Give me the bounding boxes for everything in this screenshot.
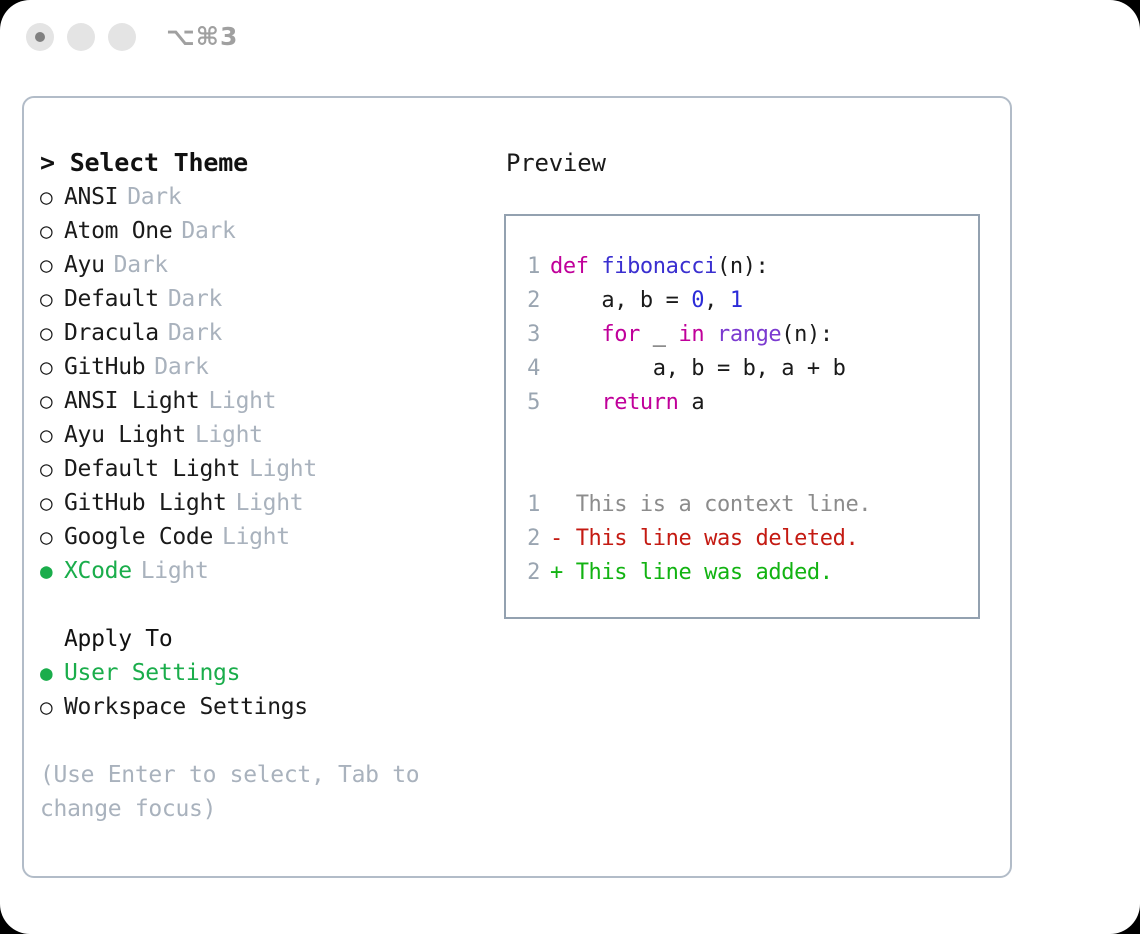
radio-unselected-icon[interactable]: ○ bbox=[40, 316, 64, 350]
theme-list-item[interactable]: ●XCodeLight bbox=[40, 554, 504, 588]
code-token: return bbox=[601, 390, 678, 415]
theme-list-item[interactable]: ○GitHubDark bbox=[40, 350, 504, 384]
theme-variant-label: Dark bbox=[154, 350, 208, 384]
theme-list-item[interactable]: ○DefaultDark bbox=[40, 282, 504, 316]
code-token: def bbox=[550, 254, 601, 279]
theme-variant-label: Dark bbox=[181, 214, 235, 248]
code-token: in bbox=[678, 322, 704, 347]
diff-marker: - bbox=[550, 522, 576, 556]
code-token: (n): bbox=[781, 322, 832, 347]
radio-unselected-icon[interactable]: ○ bbox=[40, 486, 64, 520]
theme-variant-label: Dark bbox=[114, 248, 168, 282]
code-token: _ bbox=[640, 322, 679, 347]
radio-unselected-icon[interactable]: ○ bbox=[40, 214, 64, 248]
diff-text: This line was deleted. bbox=[576, 522, 859, 556]
theme-variant-label: Light bbox=[236, 486, 304, 520]
theme-variant-label: Light bbox=[249, 452, 317, 486]
theme-selector-column: > Select Theme ○ANSIDark○Atom OneDark○Ay… bbox=[24, 98, 504, 876]
diff-preview: 1 This is a context line.2- This line wa… bbox=[506, 488, 978, 590]
code-token bbox=[550, 390, 601, 415]
theme-variant-label: Light bbox=[141, 554, 209, 588]
theme-variant-label: Light bbox=[195, 418, 263, 452]
apply-to-label: User Settings bbox=[64, 656, 240, 690]
line-number: 1 bbox=[506, 488, 550, 522]
theme-list-item[interactable]: ○Ayu LightLight bbox=[40, 418, 504, 452]
theme-name-label: Google Code bbox=[64, 520, 213, 554]
main-panel: > Select Theme ○ANSIDark○Atom OneDark○Ay… bbox=[22, 96, 1012, 878]
window-minimize-button[interactable] bbox=[67, 23, 95, 51]
theme-variant-label: Light bbox=[222, 520, 290, 554]
code-token bbox=[550, 322, 601, 347]
diff-text: This is a context line. bbox=[576, 488, 871, 522]
radio-selected-icon[interactable]: ● bbox=[40, 554, 64, 588]
apply-to-list-item[interactable]: ●User Settings bbox=[40, 656, 504, 690]
theme-name-label: Default bbox=[64, 282, 159, 316]
diff-line: 1 This is a context line. bbox=[506, 488, 978, 522]
line-number: 2 bbox=[506, 556, 550, 590]
line-number: 3 bbox=[506, 318, 550, 352]
code-token: fibonacci bbox=[601, 254, 717, 279]
apply-to-list-item[interactable]: ○Workspace Settings bbox=[40, 690, 504, 724]
preview-heading: Preview bbox=[506, 146, 1010, 180]
code-text: for _ in range(n): bbox=[550, 318, 833, 352]
theme-variant-label: Dark bbox=[127, 180, 181, 214]
theme-name-label: Ayu bbox=[64, 248, 105, 282]
diff-marker bbox=[550, 488, 576, 522]
window-controls bbox=[26, 23, 136, 51]
preview-column: Preview 1def fibonacci(n):2 a, b = 0, 13… bbox=[504, 98, 1010, 876]
code-token bbox=[704, 322, 717, 347]
theme-list-item[interactable]: ○ANSIDark bbox=[40, 180, 504, 214]
app-window: ⌥⌘3 > Select Theme ○ANSIDark○Atom OneDar… bbox=[0, 0, 1140, 934]
radio-selected-icon[interactable]: ● bbox=[40, 656, 64, 690]
line-number: 2 bbox=[506, 522, 550, 556]
code-line: 1def fibonacci(n): bbox=[506, 250, 978, 284]
theme-list-item[interactable]: ○AyuDark bbox=[40, 248, 504, 282]
code-token: range bbox=[717, 322, 781, 347]
window-titlebar: ⌥⌘3 bbox=[0, 0, 1140, 78]
theme-name-label: GitHub bbox=[64, 350, 145, 384]
spacer bbox=[40, 588, 504, 622]
theme-name-label: ANSI bbox=[64, 180, 118, 214]
theme-variant-label: Dark bbox=[168, 316, 222, 350]
radio-unselected-icon[interactable]: ○ bbox=[40, 690, 64, 724]
code-text: a, b = b, a + b bbox=[550, 352, 845, 386]
theme-list-item[interactable]: ○Default LightLight bbox=[40, 452, 504, 486]
code-preview: 1def fibonacci(n):2 a, b = 0, 13 for _ i… bbox=[506, 250, 978, 420]
diff-line: 2+ This line was added. bbox=[506, 556, 978, 590]
line-number: 5 bbox=[506, 386, 550, 420]
radio-unselected-icon[interactable]: ○ bbox=[40, 384, 64, 418]
code-token: a, b = bbox=[550, 288, 691, 313]
theme-variant-label: Dark bbox=[168, 282, 222, 316]
select-theme-heading: > Select Theme bbox=[40, 146, 504, 180]
line-number: 2 bbox=[506, 284, 550, 318]
preview-box: 1def fibonacci(n):2 a, b = 0, 13 for _ i… bbox=[504, 214, 980, 619]
radio-unselected-icon[interactable]: ○ bbox=[40, 418, 64, 452]
radio-unselected-icon[interactable]: ○ bbox=[40, 520, 64, 554]
diff-text: This line was added. bbox=[576, 556, 833, 590]
code-line: 2 a, b = 0, 1 bbox=[506, 284, 978, 318]
apply-to-heading: Apply To bbox=[64, 622, 504, 656]
code-token: for bbox=[601, 322, 640, 347]
theme-list-item[interactable]: ○GitHub LightLight bbox=[40, 486, 504, 520]
diff-marker: + bbox=[550, 556, 576, 590]
keyboard-hint-text: (Use Enter to select, Tab to change focu… bbox=[40, 758, 460, 826]
code-token: 1 bbox=[730, 288, 743, 313]
theme-name-label: XCode bbox=[64, 554, 132, 588]
line-number: 4 bbox=[506, 352, 550, 386]
code-text: return a bbox=[550, 386, 704, 420]
theme-variant-label: Light bbox=[208, 384, 276, 418]
code-line: 3 for _ in range(n): bbox=[506, 318, 978, 352]
theme-list-item[interactable]: ○DraculaDark bbox=[40, 316, 504, 350]
theme-name-label: Default Light bbox=[64, 452, 240, 486]
diff-line: 2- This line was deleted. bbox=[506, 522, 978, 556]
code-token: a, b = b, a + b bbox=[550, 356, 845, 381]
radio-unselected-icon[interactable]: ○ bbox=[40, 350, 64, 384]
theme-name-label: Dracula bbox=[64, 316, 159, 350]
code-line: 5 return a bbox=[506, 386, 978, 420]
theme-list[interactable]: ○ANSIDark○Atom OneDark○AyuDark○DefaultDa… bbox=[40, 180, 504, 588]
code-token: (n): bbox=[717, 254, 768, 279]
radio-unselected-icon[interactable]: ○ bbox=[40, 452, 64, 486]
radio-unselected-icon[interactable]: ○ bbox=[40, 282, 64, 316]
code-text: def fibonacci(n): bbox=[550, 250, 768, 284]
keyboard-shortcut-label: ⌥⌘3 bbox=[166, 22, 238, 51]
apply-to-label: Workspace Settings bbox=[64, 690, 308, 724]
theme-name-label: ANSI Light bbox=[64, 384, 199, 418]
spacer bbox=[506, 454, 978, 488]
code-token: a bbox=[678, 390, 704, 415]
theme-list-item[interactable]: ○Atom OneDark bbox=[40, 214, 504, 248]
spacer bbox=[506, 420, 978, 454]
line-number: 1 bbox=[506, 250, 550, 284]
radio-unselected-icon[interactable]: ○ bbox=[40, 180, 64, 214]
theme-name-label: Ayu Light bbox=[64, 418, 186, 452]
apply-to-list[interactable]: ●User Settings○Workspace Settings bbox=[40, 656, 504, 724]
code-line: 4 a, b = b, a + b bbox=[506, 352, 978, 386]
spacer bbox=[40, 724, 504, 758]
window-close-dot bbox=[35, 32, 45, 42]
code-text: a, b = 0, 1 bbox=[550, 284, 743, 318]
radio-unselected-icon[interactable]: ○ bbox=[40, 248, 64, 282]
window-maximize-button[interactable] bbox=[108, 23, 136, 51]
window-close-button[interactable] bbox=[26, 23, 54, 51]
theme-list-item[interactable]: ○Google CodeLight bbox=[40, 520, 504, 554]
theme-name-label: Atom One bbox=[64, 214, 172, 248]
theme-list-item[interactable]: ○ANSI LightLight bbox=[40, 384, 504, 418]
code-token: , bbox=[704, 288, 730, 313]
theme-name-label: GitHub Light bbox=[64, 486, 227, 520]
code-token: 0 bbox=[691, 288, 704, 313]
